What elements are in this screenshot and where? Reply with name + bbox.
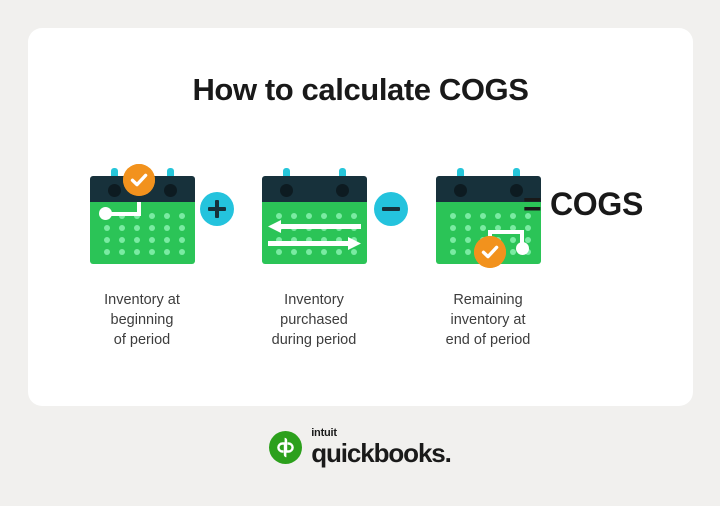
exchange-arrows-icon — [268, 220, 361, 250]
caption-remaining-inventory: Remaining inventory at end of period — [408, 290, 568, 350]
quickbooks-wordmark: intuit quickbooks. — [311, 428, 451, 466]
caption-line: during period — [234, 330, 394, 350]
caption-beginning-inventory: Inventory at beginning of period — [62, 290, 222, 350]
calendar-body — [262, 202, 367, 264]
check-badge-icon — [474, 236, 506, 268]
calendar-ring-right — [510, 184, 523, 197]
caption-line: Inventory — [234, 290, 394, 310]
step-captions: Inventory at beginning of period Invento… — [28, 290, 693, 370]
calendar-ring-right — [336, 184, 349, 197]
page-title: How to calculate COGS — [28, 72, 693, 108]
route-segment-vertical — [137, 202, 141, 216]
calendar-ring-left — [280, 184, 293, 197]
caption-line: beginning — [62, 310, 222, 330]
caption-line: inventory at — [408, 310, 568, 330]
calendar-body — [90, 202, 195, 264]
check-badge-icon — [123, 164, 155, 196]
caption-line: purchased — [234, 310, 394, 330]
calendar-header-bar — [262, 176, 367, 202]
content-card: How to calculate COGS — [28, 28, 693, 406]
quickbooks-text: quickbooks. — [311, 440, 451, 466]
quickbooks-logo: intuit quickbooks. — [0, 428, 720, 466]
caption-line: Remaining — [408, 290, 568, 310]
calendar-day-dots — [99, 210, 189, 258]
caption-line: Inventory at — [62, 290, 222, 310]
plus-circle-icon — [200, 192, 234, 226]
cogs-formula-row: = COGS — [28, 146, 693, 276]
quickbooks-qb-mark-icon — [269, 431, 302, 464]
calendar-ring-right — [164, 184, 177, 197]
route-endpoint-dot — [516, 242, 529, 255]
caption-line: of period — [62, 330, 222, 350]
caption-line: end of period — [408, 330, 568, 350]
route-endpoint-dot — [99, 207, 112, 220]
calendar-ring-left — [108, 184, 121, 197]
minus-circle-icon — [374, 192, 408, 226]
route-segment-horizontal — [488, 230, 524, 234]
infographic-page: How to calculate COGS — [0, 0, 720, 506]
calendar-purchased-inventory-icon — [262, 168, 367, 264]
result-label: = COGS — [523, 186, 643, 223]
caption-purchased-inventory: Inventory purchased during period — [234, 290, 394, 350]
calendar-ring-left — [454, 184, 467, 197]
calendar-beginning-inventory-icon — [90, 168, 195, 264]
